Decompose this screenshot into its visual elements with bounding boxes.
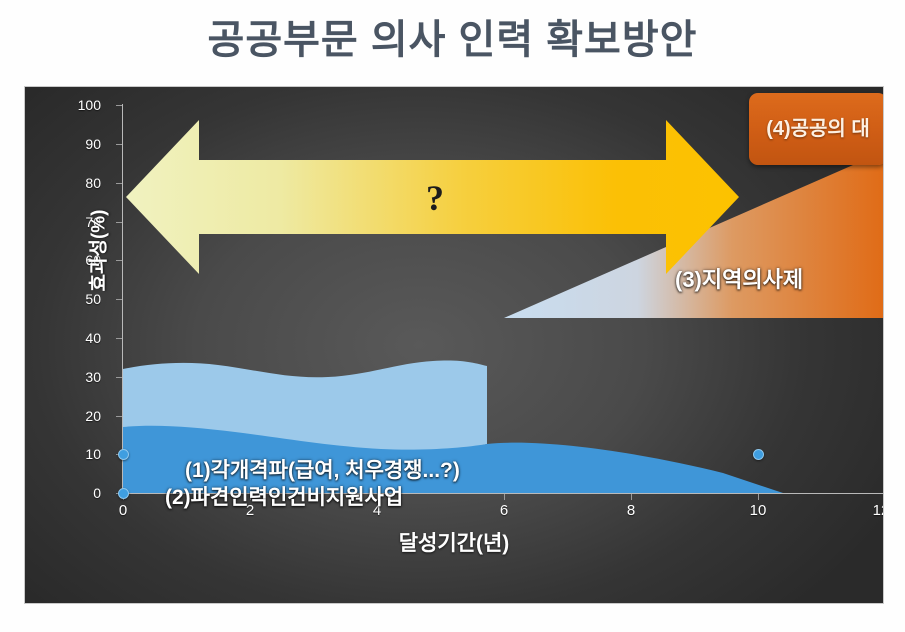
y-tick-30 — [116, 377, 122, 378]
y-axis-title: 효과성(%) — [84, 171, 111, 331]
series-label-2: (2)파견인력인건비지원사업 — [165, 481, 403, 511]
series-label-3: (3)지역의사제 — [675, 262, 803, 294]
y-tick-80 — [116, 183, 122, 184]
x-tick-label-10: 10 — [738, 503, 778, 519]
x-tick-label-12: 12 — [861, 503, 884, 519]
data-point-marker[interactable] — [118, 488, 129, 499]
y-tick-label-20: 20 — [57, 409, 101, 423]
y-tick-label-90: 90 — [57, 137, 101, 151]
x-tick-10 — [758, 494, 759, 500]
x-tick-label-6: 6 — [484, 503, 524, 519]
data-point-marker[interactable] — [118, 449, 129, 460]
y-tick-label-30: 30 — [57, 370, 101, 384]
series-label-1: (1)각개격파(급여, 처우경쟁...?) — [185, 454, 460, 484]
callout-public-medical-school[interactable]: (4)공공의 대 — [749, 93, 884, 165]
slide-root: 공공부문 의사 인력 확보방안 100 90 80 70 60 50 40 30… — [0, 0, 905, 632]
question-mark-annotation: ? — [405, 177, 465, 219]
y-tick-label-10: 10 — [57, 447, 101, 461]
x-tick-8 — [631, 494, 632, 500]
y-tick-label-0: 0 — [57, 486, 101, 500]
y-tick-50 — [116, 299, 122, 300]
callout-label: (4)공공의 대 — [766, 117, 870, 142]
y-tick-100 — [116, 105, 122, 106]
x-tick-label-8: 8 — [611, 503, 651, 519]
y-tick-label-40: 40 — [57, 331, 101, 345]
y-tick-40 — [116, 338, 122, 339]
y-tick-20 — [116, 416, 122, 417]
y-tick-60 — [116, 260, 122, 261]
x-tick-6 — [504, 494, 505, 500]
y-tick-90 — [116, 144, 122, 145]
y-tick-70 — [116, 222, 122, 223]
page-title: 공공부문 의사 인력 확보방안 — [0, 8, 905, 72]
x-tick-label-0: 0 — [103, 503, 143, 519]
chart-area: 100 90 80 70 60 50 40 30 20 10 0 0 2 4 6… — [24, 86, 884, 604]
data-point-marker[interactable] — [753, 449, 764, 460]
x-axis-title: 달성기간(년) — [25, 527, 883, 557]
y-tick-label-100: 100 — [57, 98, 101, 112]
